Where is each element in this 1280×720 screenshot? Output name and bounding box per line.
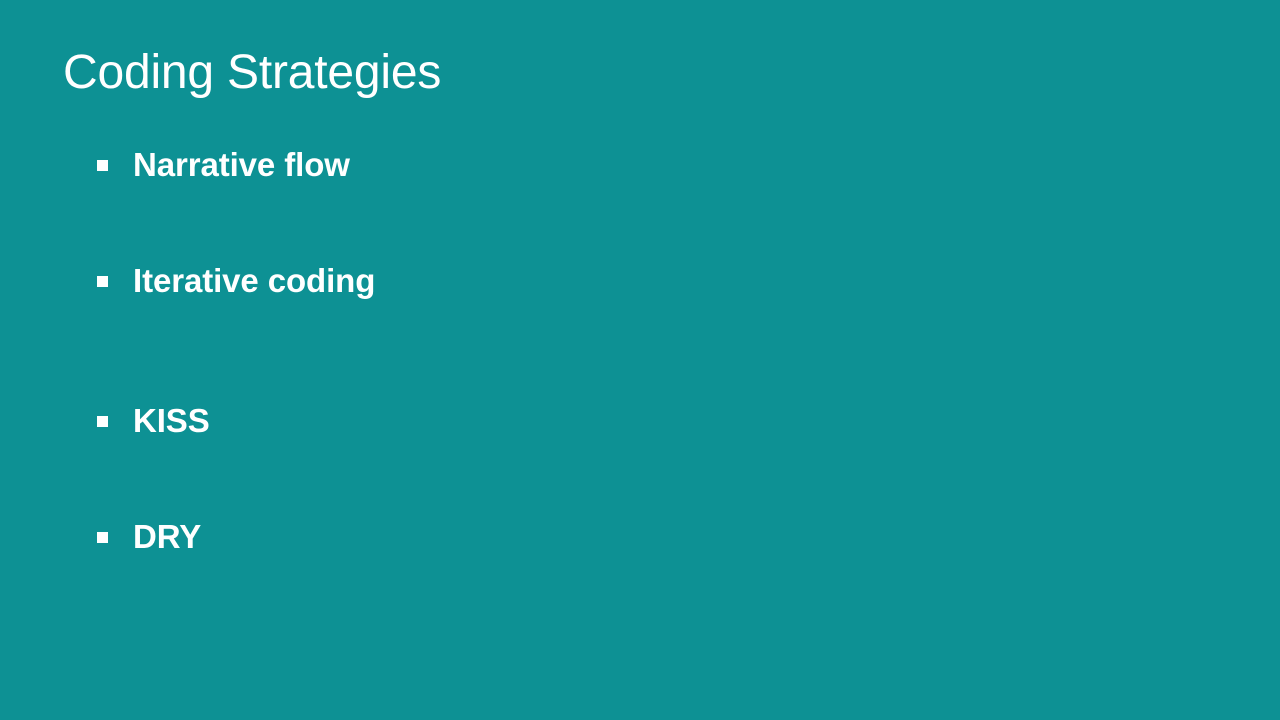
presentation-slide: Coding Strategies Narrative flow Iterati… — [0, 0, 1280, 720]
bullet-list: Narrative flow Iterative coding KISS DRY — [0, 0, 1280, 720]
square-bullet-icon — [97, 416, 108, 427]
square-bullet-icon — [97, 160, 108, 171]
square-bullet-icon — [97, 532, 108, 543]
bullet-list-item[interactable]: KISS — [97, 401, 210, 441]
square-bullet-icon — [97, 276, 108, 287]
bullet-item-label: DRY — [133, 517, 201, 557]
bullet-list-item[interactable]: Iterative coding — [97, 261, 375, 301]
bullet-item-label: KISS — [133, 401, 210, 441]
bullet-list-item[interactable]: Narrative flow — [97, 145, 350, 185]
bullet-item-label: Iterative coding — [133, 261, 375, 301]
bullet-item-label: Narrative flow — [133, 145, 350, 185]
bullet-list-item[interactable]: DRY — [97, 517, 201, 557]
